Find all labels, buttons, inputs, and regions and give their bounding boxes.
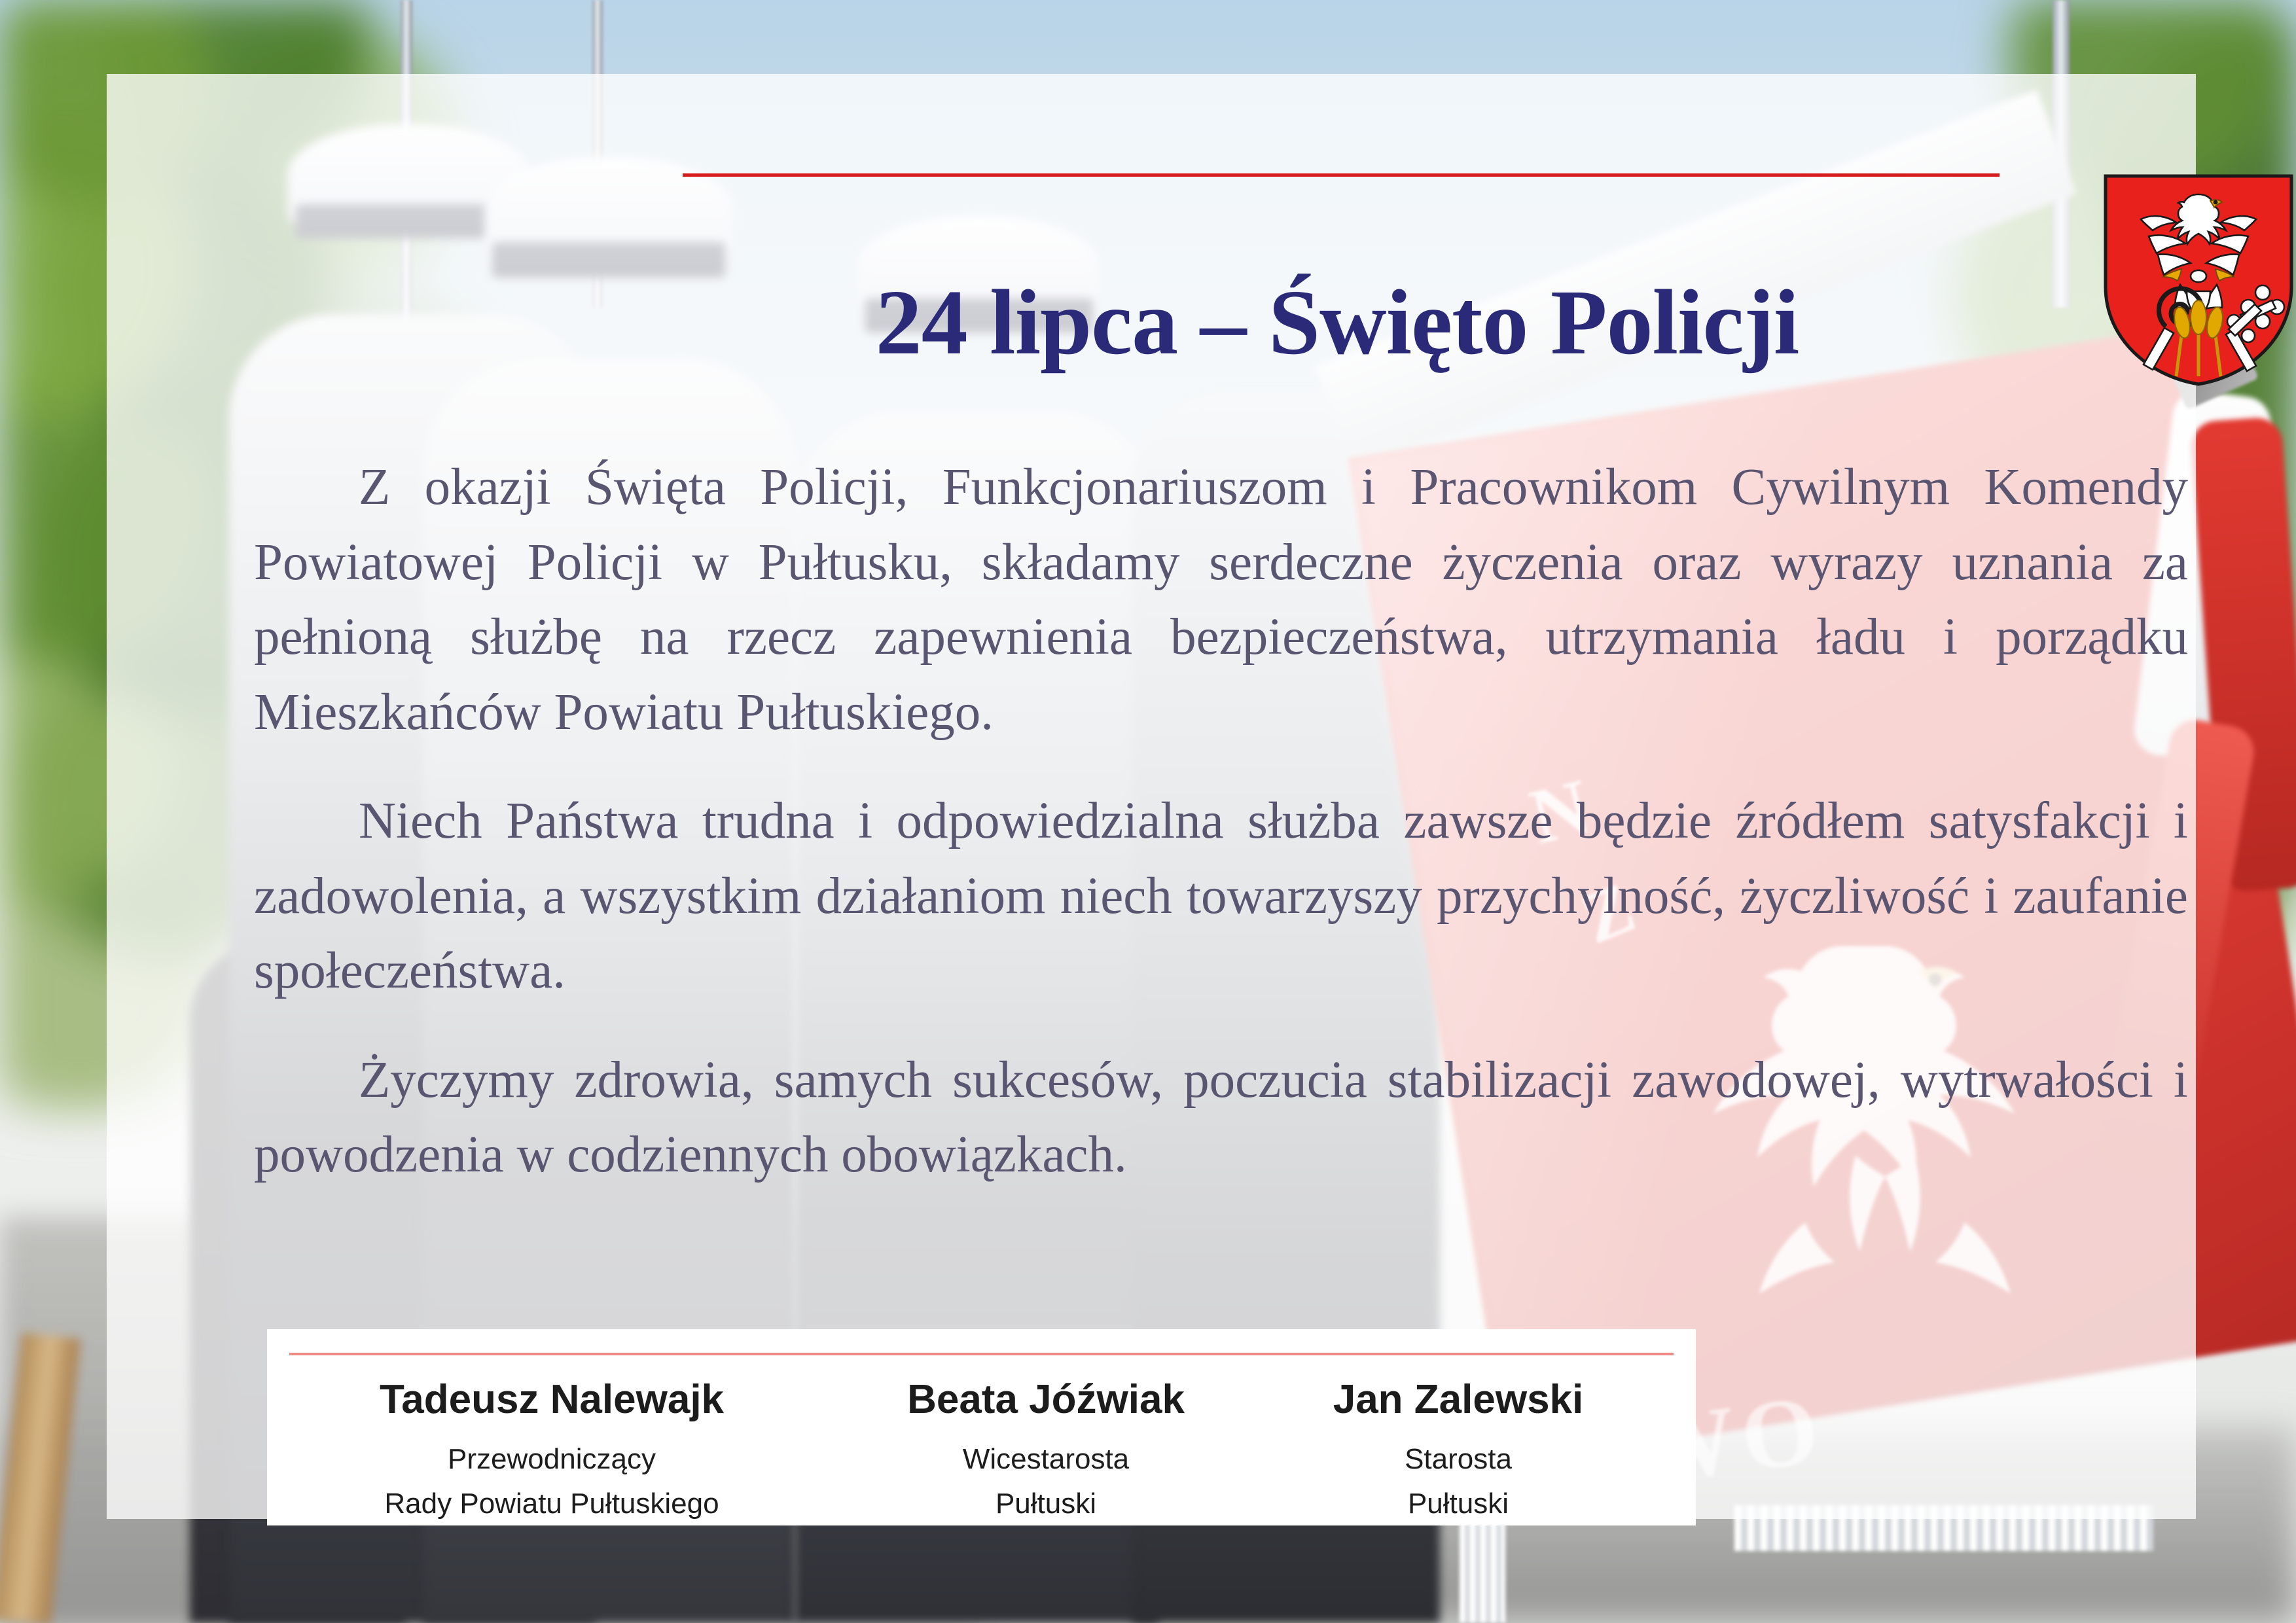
paragraph-1: Z okazji Święta Policji, Funkcjonariuszo…: [254, 450, 2188, 750]
greeting-card-panel: 24 lipca – Święto Policji: [107, 74, 2196, 1519]
signature-row: Tadeusz Nalewajk Przewodniczący Rady Pow…: [267, 1376, 1696, 1527]
message-body: Z okazji Święta Policji, Funkcjonariuszo…: [254, 450, 2188, 1193]
signature-block-2: Beata Jóźwiak Wicestarosta Pułtuski: [836, 1376, 1255, 1527]
signatory-name: Jan Zalewski: [1255, 1376, 1661, 1423]
signatory-role-line-2: Pułtuski: [836, 1482, 1255, 1526]
signatory-role-line-1: Starosta: [1255, 1437, 1661, 1482]
signature-divider-rule: [289, 1353, 1674, 1355]
signatory-role-line-2: Pułtuski: [1255, 1482, 1661, 1526]
coat-of-arms-icon: [2100, 172, 2296, 388]
signatory-name: Tadeusz Nalewajk: [267, 1376, 836, 1423]
signatory-role-line-2: Rady Powiatu Pułtuskiego: [267, 1482, 836, 1526]
top-divider-rule: [683, 173, 2000, 177]
paragraph-2: Niech Państwa trudna i odpowiedzialna sł…: [254, 784, 2188, 1009]
signatory-role-line-1: Wicestarosta: [836, 1437, 1255, 1482]
signature-block-1: Tadeusz Nalewajk Przewodniczący Rady Pow…: [267, 1376, 836, 1527]
page-title: 24 lipca – Święto Policji: [683, 270, 1992, 374]
signature-block-3: Jan Zalewski Starosta Pułtuski: [1255, 1376, 1661, 1527]
paragraph-3: Życzymy zdrowia, samych sukcesów, poczuc…: [254, 1043, 2188, 1193]
signatory-name: Beata Jóźwiak: [836, 1376, 1255, 1423]
signatory-role-line-1: Przewodniczący: [267, 1437, 836, 1482]
signature-panel: Tadeusz Nalewajk Przewodniczący Rady Pow…: [267, 1329, 1696, 1525]
